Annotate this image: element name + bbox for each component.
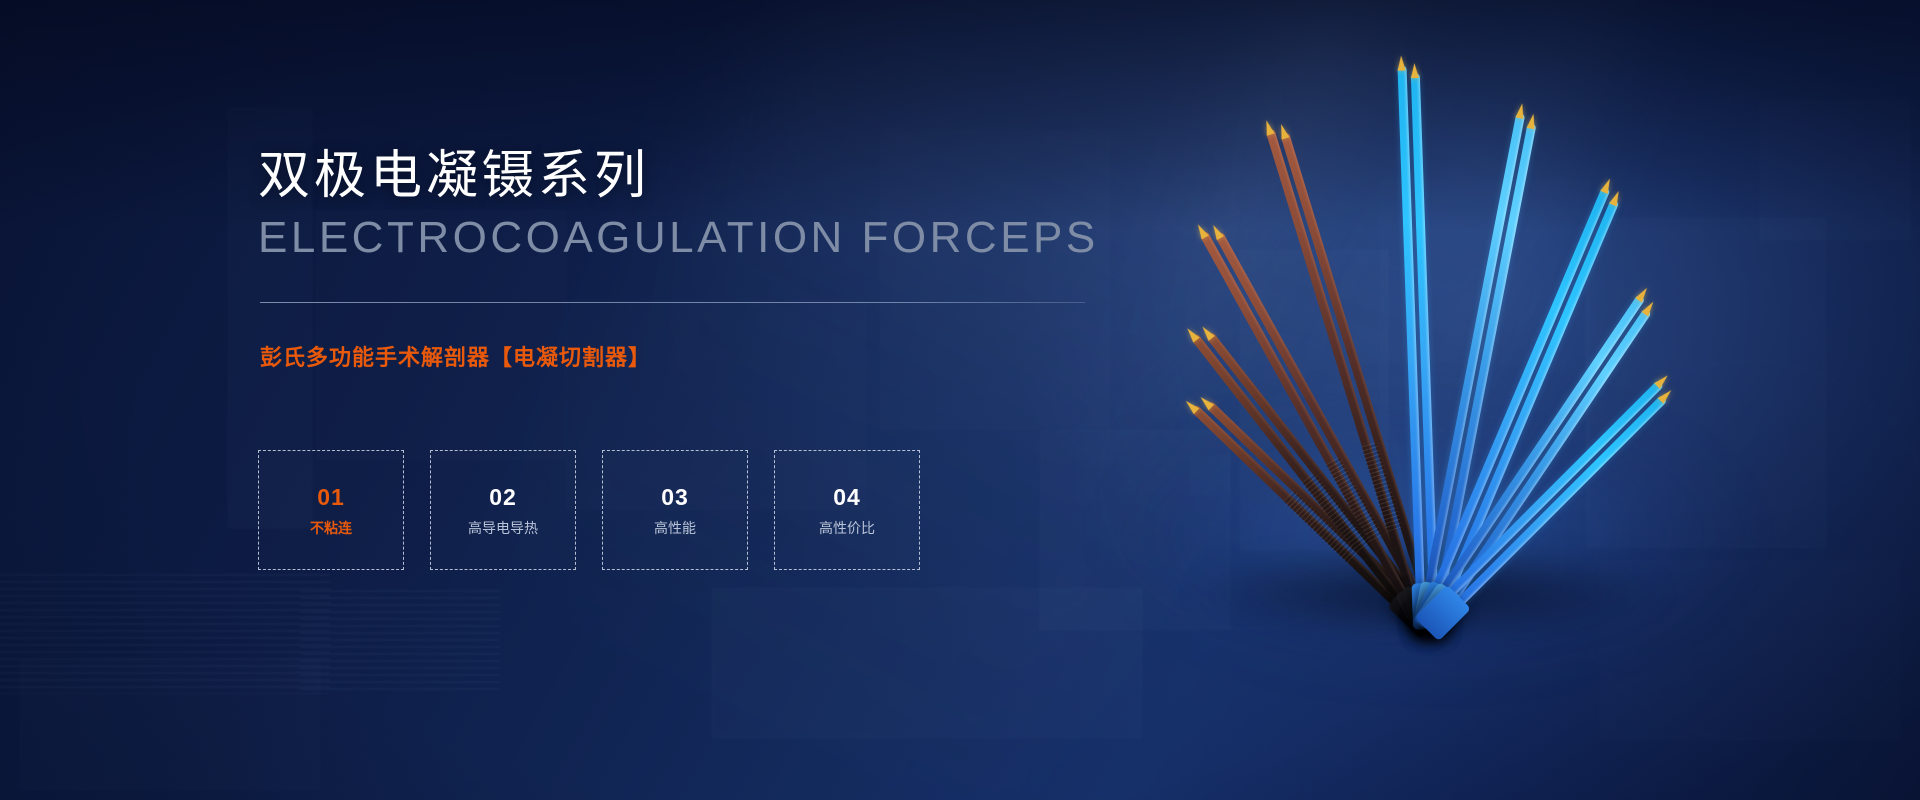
product-tagline: 彭氏多功能手术解剖器【电凝切割器】 <box>260 340 651 372</box>
feature-label: 高性价比 <box>819 521 875 535</box>
feature-number: 03 <box>661 486 689 509</box>
feature-label: 高导电导热 <box>468 521 538 535</box>
feature-card-03[interactable]: 03 高性能 <box>602 450 748 570</box>
feature-number: 02 <box>489 486 517 509</box>
title-divider <box>260 302 1085 303</box>
feature-card-01[interactable]: 01 不粘连 <box>258 450 404 570</box>
feature-label: 不粘连 <box>310 521 352 535</box>
page-subtitle-english: ELECTROCOAGULATION FORCEPS <box>258 216 1099 260</box>
product-hero-banner: 双极电凝镊系列 ELECTROCOAGULATION FORCEPS 彭氏多功能… <box>0 0 1920 800</box>
feature-list: 01 不粘连 02 高导电导热 03 高性能 04 高性价比 <box>258 450 920 570</box>
feature-number: 04 <box>833 486 861 509</box>
feature-card-04[interactable]: 04 高性价比 <box>774 450 920 570</box>
feature-card-02[interactable]: 02 高导电导热 <box>430 450 576 570</box>
feature-label: 高性能 <box>654 521 696 535</box>
page-title: 双极电凝镊系列 <box>258 150 650 202</box>
product-image-forceps-fan <box>1048 0 1808 625</box>
hero-text-column: 双极电凝镊系列 ELECTROCOAGULATION FORCEPS 彭氏多功能… <box>258 0 1158 800</box>
feature-number: 01 <box>317 486 345 509</box>
